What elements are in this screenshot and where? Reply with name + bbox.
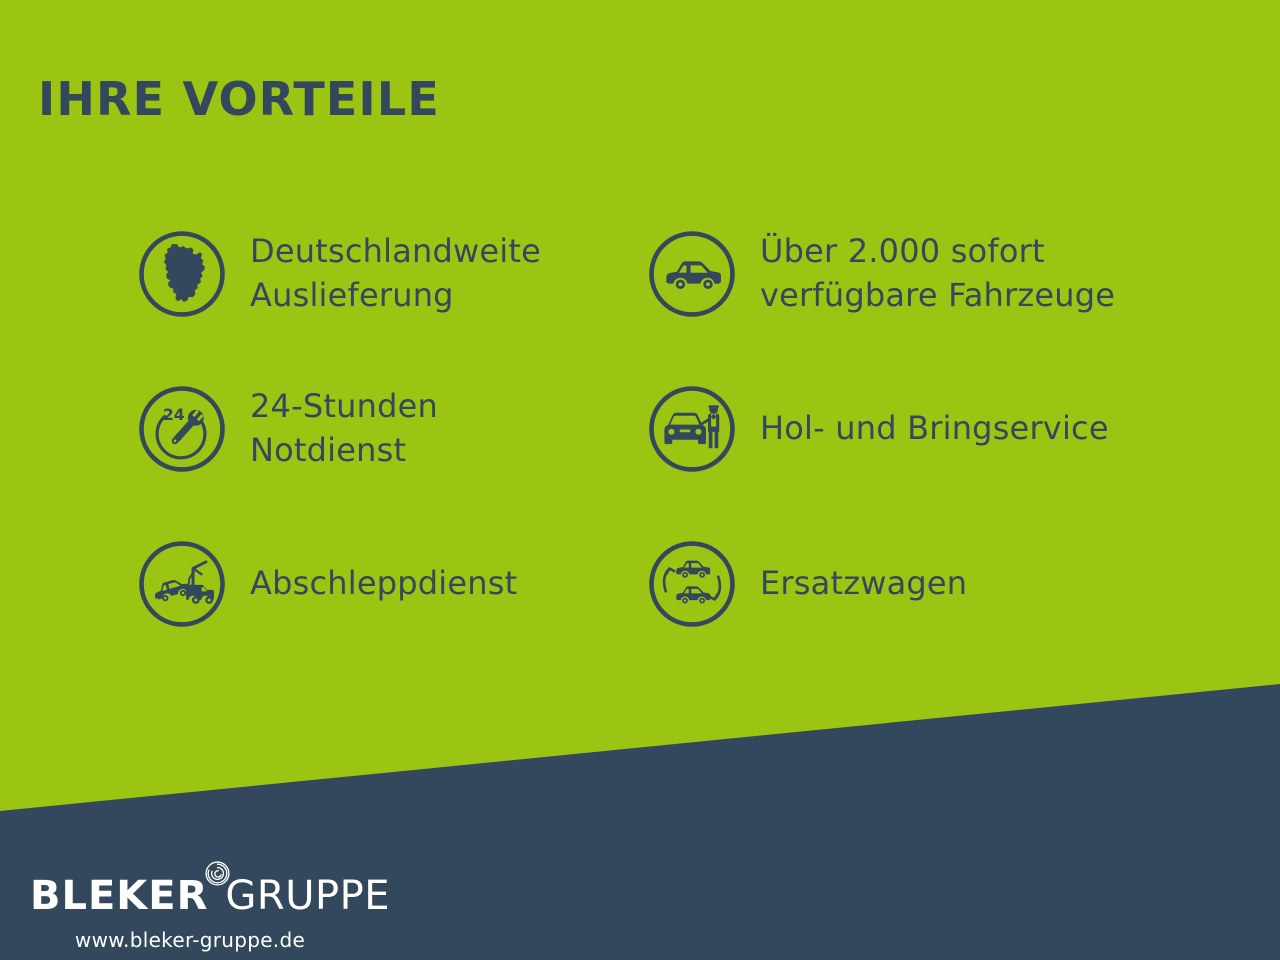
- benefit-item: Deutschlandweite Auslieferung: [136, 196, 636, 351]
- footer-website-url[interactable]: www.bleker-gruppe.de: [30, 928, 350, 952]
- logo-word-bleker: BLEKER: [30, 876, 208, 916]
- benefit-item: Ersatzwagen: [646, 506, 1166, 661]
- benefit-item: Über 2.000 sofort verfügbare Fahrzeuge: [646, 196, 1166, 351]
- slide-canvas: IHRE VORTEILE Deutschlandweite Ausliefer…: [0, 0, 1280, 960]
- benefit-label: Ersatzwagen: [760, 562, 967, 605]
- benefit-label: Abschleppdienst: [250, 562, 517, 605]
- benefit-label: Hol- und Bringservice: [760, 407, 1109, 450]
- benefits-grid: Deutschlandweite Auslieferung Über 2.000…: [136, 196, 1196, 661]
- germany-map-icon: [136, 228, 228, 320]
- logo-word-gruppe: GRUPPE: [225, 876, 390, 916]
- tow-truck-icon: [136, 538, 228, 630]
- car-side-icon: [646, 228, 738, 320]
- benefit-label: 24-Stunden Notdienst: [250, 385, 438, 471]
- footer-logo[interactable]: BLEKER GRUPPE www.bleker-gruppe.de: [30, 868, 390, 958]
- clock-24-wrench-icon: 24: [136, 383, 228, 475]
- car-exchange-icon: [646, 538, 738, 630]
- logo-lockup: BLEKER GRUPPE: [30, 868, 390, 924]
- benefit-item: 24 24-Stunden Notdienst: [136, 351, 636, 506]
- benefit-item: Hol- und Bringservice: [646, 351, 1166, 506]
- spiral-icon: [204, 860, 231, 924]
- benefit-label: Deutschlandweite Auslieferung: [250, 230, 541, 316]
- clock-24-label: 24: [163, 404, 185, 423]
- car-with-driver-icon: [646, 383, 738, 475]
- page-title: IHRE VORTEILE: [38, 76, 440, 122]
- benefit-item: Abschleppdienst: [136, 506, 636, 661]
- benefit-label: Über 2.000 sofort verfügbare Fahrzeuge: [760, 230, 1115, 316]
